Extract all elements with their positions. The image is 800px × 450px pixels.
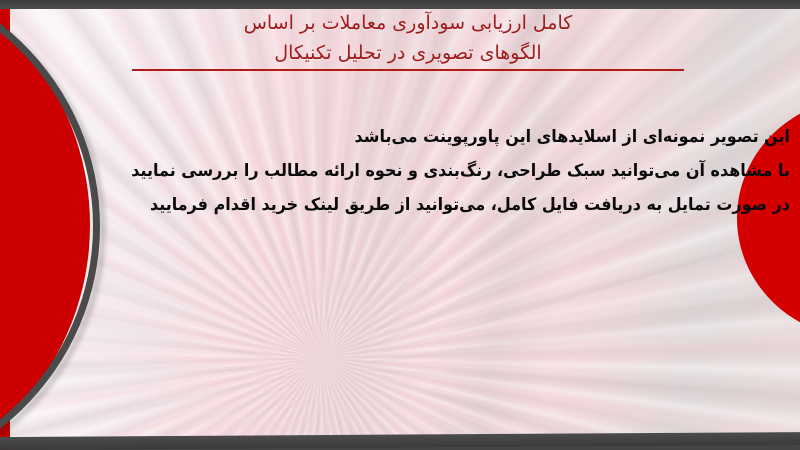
slide-background bbox=[0, 8, 800, 438]
title-line-1: کامل ارزیابی سودآوری معاملات بر اساس bbox=[132, 8, 684, 38]
title-line-2: الگوهای تصویری در تحلیل تکنیکال bbox=[132, 38, 684, 68]
background-arc-ribbons-secondary bbox=[0, 8, 800, 438]
slide-title: کامل ارزیابی سودآوری معاملات بر اساس الگ… bbox=[132, 8, 684, 71]
slide-body: این تصویر نمونه‌ای از اسلایدهای این پاور… bbox=[150, 120, 790, 222]
background-arc-ribbons bbox=[0, 8, 800, 438]
body-line-2: با مشاهده آن می‌توانید سبک طراحی، رنگ‌بن… bbox=[188, 154, 790, 188]
body-line-3: در صورت تمایل به دریافت فایل کامل، می‌تو… bbox=[188, 188, 790, 222]
presentation-slide: کامل ارزیابی سودآوری معاملات بر اساس الگ… bbox=[0, 0, 800, 450]
body-line-1: این تصویر نمونه‌ای از اسلایدهای این پاور… bbox=[188, 120, 790, 154]
title-underline bbox=[132, 69, 684, 71]
